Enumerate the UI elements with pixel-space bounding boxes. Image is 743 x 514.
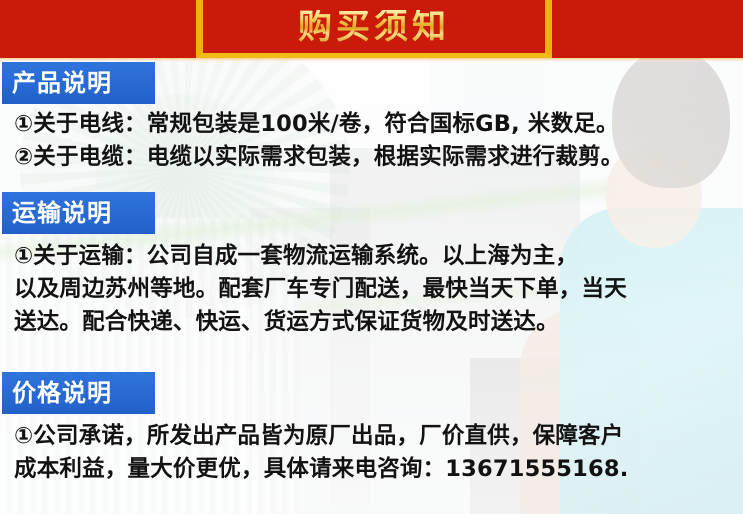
content-area: 产品说明 ①关于电线：常规包装是100米/卷，符合国标GB, 米数足。 ②关于电… bbox=[0, 58, 743, 514]
section-label-product: 产品说明 bbox=[2, 62, 155, 104]
section-label-product-text: 产品说明 bbox=[2, 71, 112, 95]
page-title: 购买须知 bbox=[298, 10, 450, 44]
title-frame: 购买须知 bbox=[196, 0, 552, 58]
header-band: 购买须知 bbox=[0, 0, 743, 58]
section-body-transport: ①关于运输：公司自成一套物流运输系统。以上海为主， 以及周边苏州等地。配套厂车专… bbox=[14, 240, 730, 339]
section-label-transport: 运输说明 bbox=[2, 192, 155, 234]
section-label-price: 价格说明 bbox=[2, 372, 155, 414]
section-label-price-text: 价格说明 bbox=[2, 381, 112, 405]
purchase-notice-banner: 购买须知 产品说明 ①关于电线：常规包装是100米/卷，符合国标GB, 米数足。… bbox=[0, 0, 743, 514]
section-body-price: ①公司承诺，所发出产品皆为原厂出品，厂价直供，保障客户 成本利益，量大价更优，具… bbox=[14, 420, 730, 486]
section-label-transport-text: 运输说明 bbox=[2, 201, 112, 225]
section-body-product: ①关于电线：常规包装是100米/卷，符合国标GB, 米数足。 ②关于电缆：电缆以… bbox=[14, 108, 730, 174]
